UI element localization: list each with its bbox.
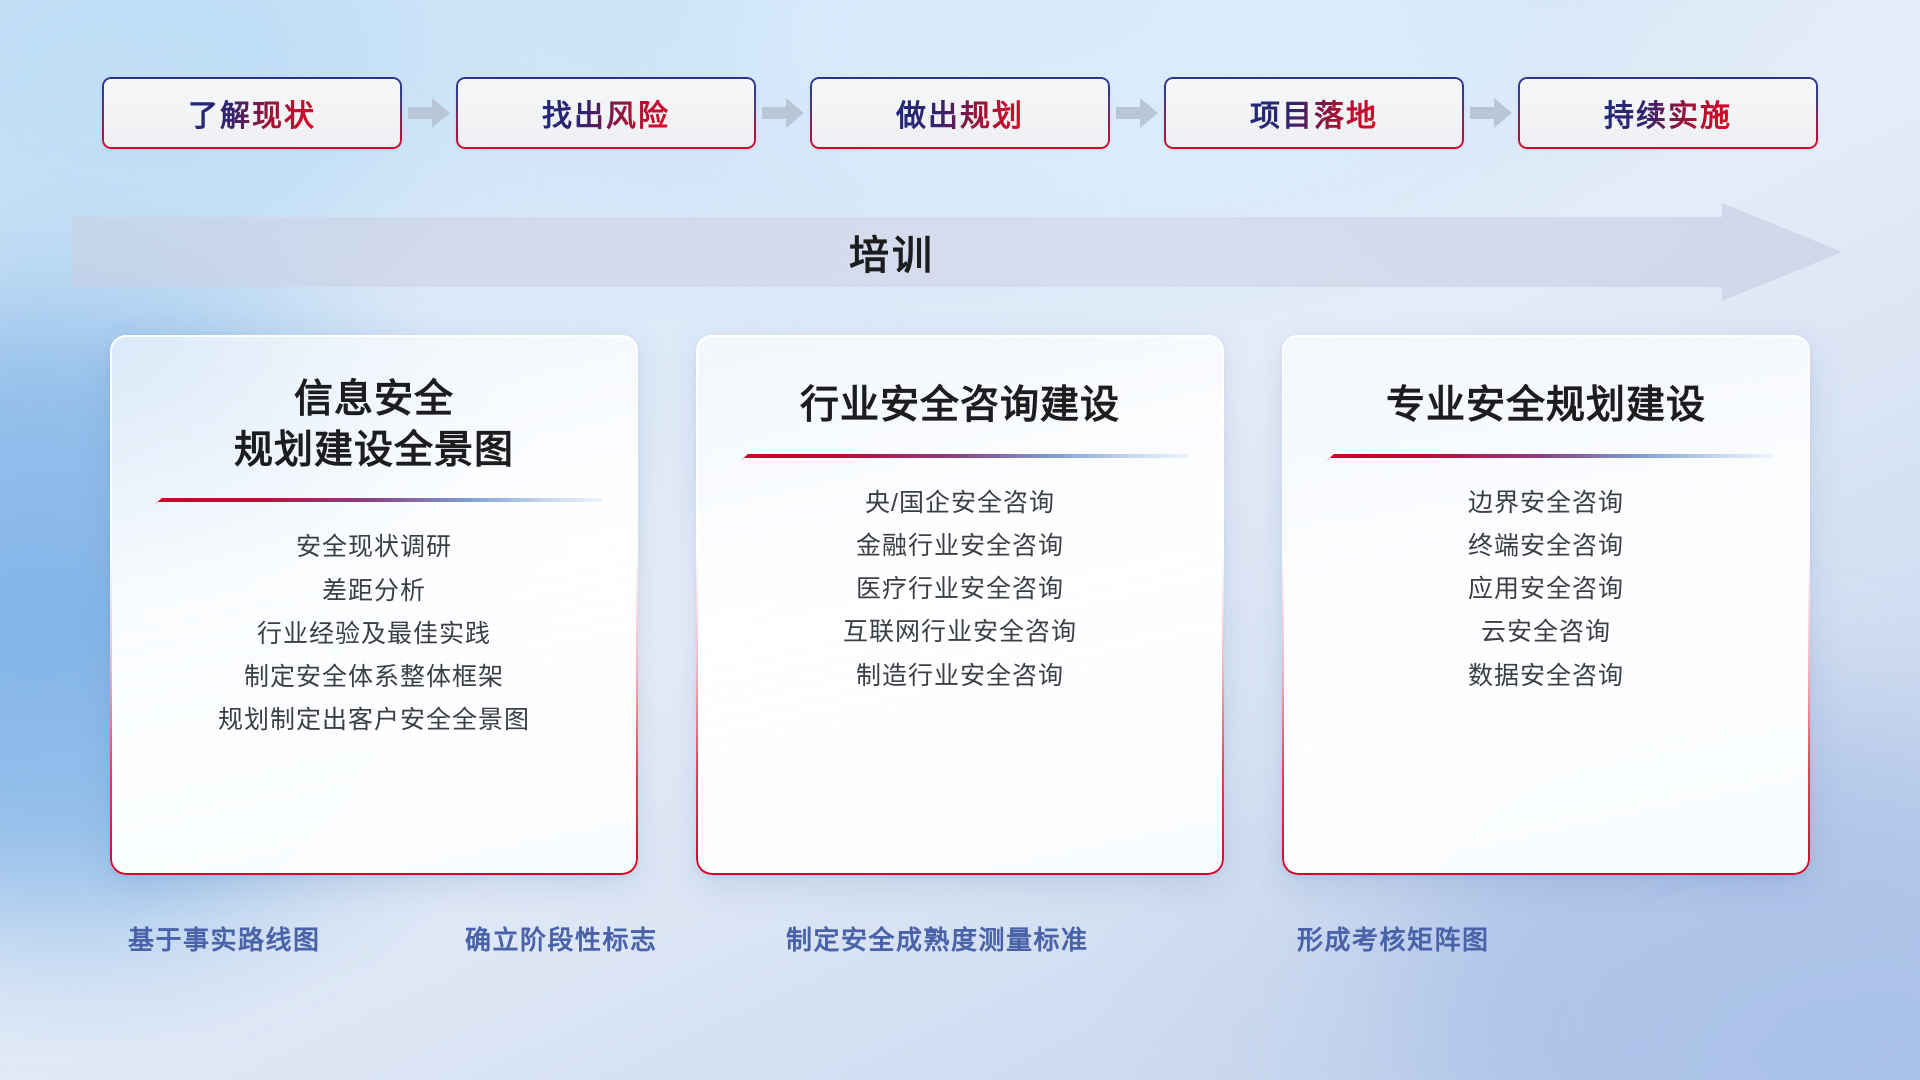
card-title-line: 规划建设全景图 — [154, 426, 594, 477]
list-item: 医疗行业安全咨询 — [856, 574, 1064, 605]
training-band-label: 培训 — [72, 203, 1712, 301]
process-step-3[interactable]: 做出规划 — [810, 77, 1110, 149]
card-divider — [732, 452, 1188, 464]
caption-row: 基于事实路线图 确立阶段性标志 制定安全成熟度测量标准 形成考核矩阵图 — [0, 920, 1920, 974]
card-item-list: 安全现状调研 差距分析 行业经验及最佳实践 制定安全体系整体框架 规划制定出客户… — [110, 532, 638, 736]
list-item: 应用安全咨询 — [1468, 574, 1624, 605]
list-item: 制定安全体系整体框架 — [244, 662, 504, 693]
card-title: 行业安全咨询建设 — [740, 381, 1180, 432]
card-title-line: 信息安全 — [154, 375, 594, 426]
list-item: 差距分析 — [322, 576, 426, 607]
list-item: 央/国企安全咨询 — [865, 488, 1055, 519]
card-information-security-blueprint[interactable]: 信息安全 规划建设全景图 安全现状调研 差 — [110, 335, 638, 875]
process-step-label: 了解现状 — [188, 91, 316, 135]
list-item: 数据安全咨询 — [1468, 661, 1624, 692]
right-arrow-icon — [402, 72, 456, 154]
list-item: 制造行业安全咨询 — [856, 661, 1064, 692]
caption-fact-based-roadmap: 基于事实路线图 — [128, 920, 321, 957]
list-item: 云安全咨询 — [1481, 617, 1611, 648]
right-arrow-icon — [756, 72, 810, 154]
card-item-list: 央/国企安全咨询 金融行业安全咨询 医疗行业安全咨询 互联网行业安全咨询 制造行… — [696, 488, 1224, 692]
caption-assessment-matrix: 形成考核矩阵图 — [1297, 920, 1490, 957]
caption-maturity-measure-standard: 制定安全成熟度测量标准 — [786, 920, 1089, 957]
process-step-label: 项目落地 — [1250, 91, 1378, 135]
training-band: 培训 — [72, 203, 1842, 301]
card-title: 信息安全 规划建设全景图 — [154, 375, 594, 476]
list-item: 金融行业安全咨询 — [856, 531, 1064, 562]
card-divider — [1318, 452, 1774, 464]
process-step-4[interactable]: 项目落地 — [1164, 77, 1464, 149]
card-title-line: 行业安全咨询建设 — [740, 381, 1180, 432]
right-arrow-icon — [1110, 72, 1164, 154]
right-arrow-icon — [1464, 72, 1518, 154]
caption-stage-milestones: 确立阶段性标志 — [465, 920, 658, 957]
card-industry-security-consulting[interactable]: 行业安全咨询建设 央/国企安全咨询 金融行业安全咨询 — [696, 335, 1224, 875]
list-item: 安全现状调研 — [296, 532, 452, 563]
card-professional-security-planning[interactable]: 专业安全规划建设 边界安全咨询 终端安全咨询 — [1282, 335, 1810, 875]
card-title-line: 专业安全规划建设 — [1326, 381, 1766, 432]
card-title: 专业安全规划建设 — [1326, 381, 1766, 432]
process-step-label: 持续实施 — [1604, 91, 1732, 135]
card-row: 信息安全 规划建设全景图 安全现状调研 差 — [0, 335, 1920, 875]
card-divider — [146, 496, 602, 508]
process-step-row: 了解现状 找出风险 做出规划 项目落地 持续实施 — [0, 72, 1920, 154]
process-step-label: 做出规划 — [896, 91, 1024, 135]
list-item: 终端安全咨询 — [1468, 531, 1624, 562]
list-item: 互联网行业安全咨询 — [843, 617, 1077, 648]
list-item: 边界安全咨询 — [1468, 488, 1624, 519]
card-item-list: 边界安全咨询 终端安全咨询 应用安全咨询 云安全咨询 数据安全咨询 — [1282, 488, 1810, 692]
list-item: 行业经验及最佳实践 — [257, 619, 491, 650]
process-step-2[interactable]: 找出风险 — [456, 77, 756, 149]
process-step-label: 找出风险 — [542, 91, 670, 135]
process-step-1[interactable]: 了解现状 — [102, 77, 402, 149]
process-step-5[interactable]: 持续实施 — [1518, 77, 1818, 149]
list-item: 规划制定出客户安全全景图 — [218, 705, 530, 736]
